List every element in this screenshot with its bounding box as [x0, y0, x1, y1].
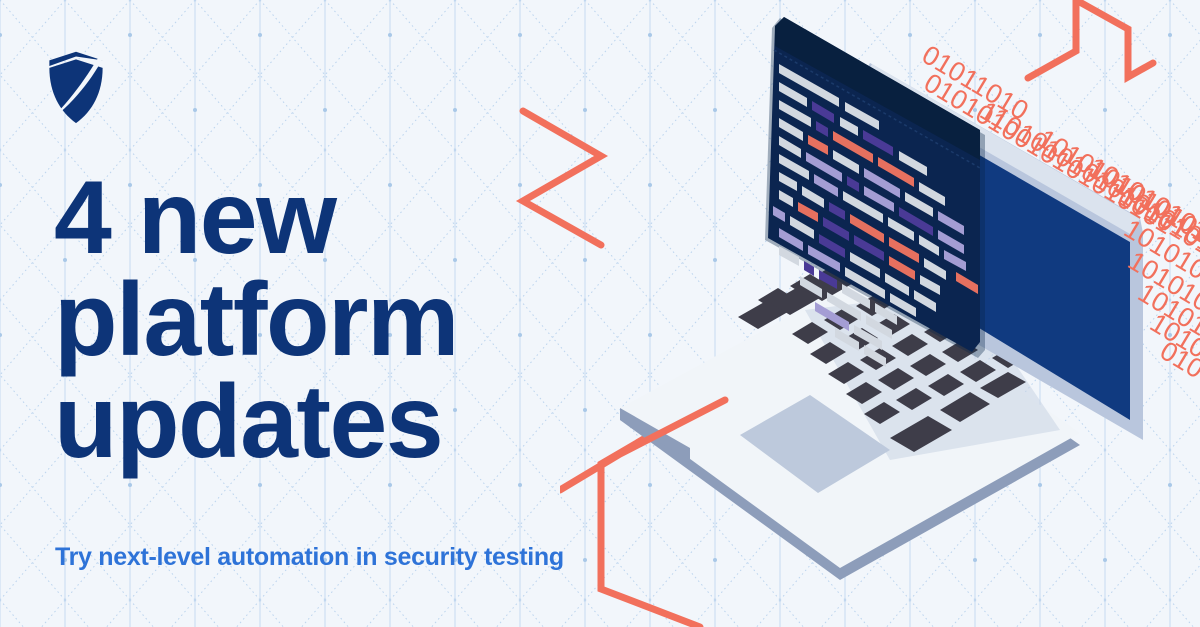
laptop-illustration — [560, 0, 1200, 627]
page-title: 4 new platform updates — [54, 168, 574, 474]
hero-banner: 4 new platform updates Try next-level au… — [0, 0, 1200, 627]
shield-logo — [45, 47, 107, 125]
page-subtitle: Try next-level automation in security te… — [55, 543, 564, 572]
